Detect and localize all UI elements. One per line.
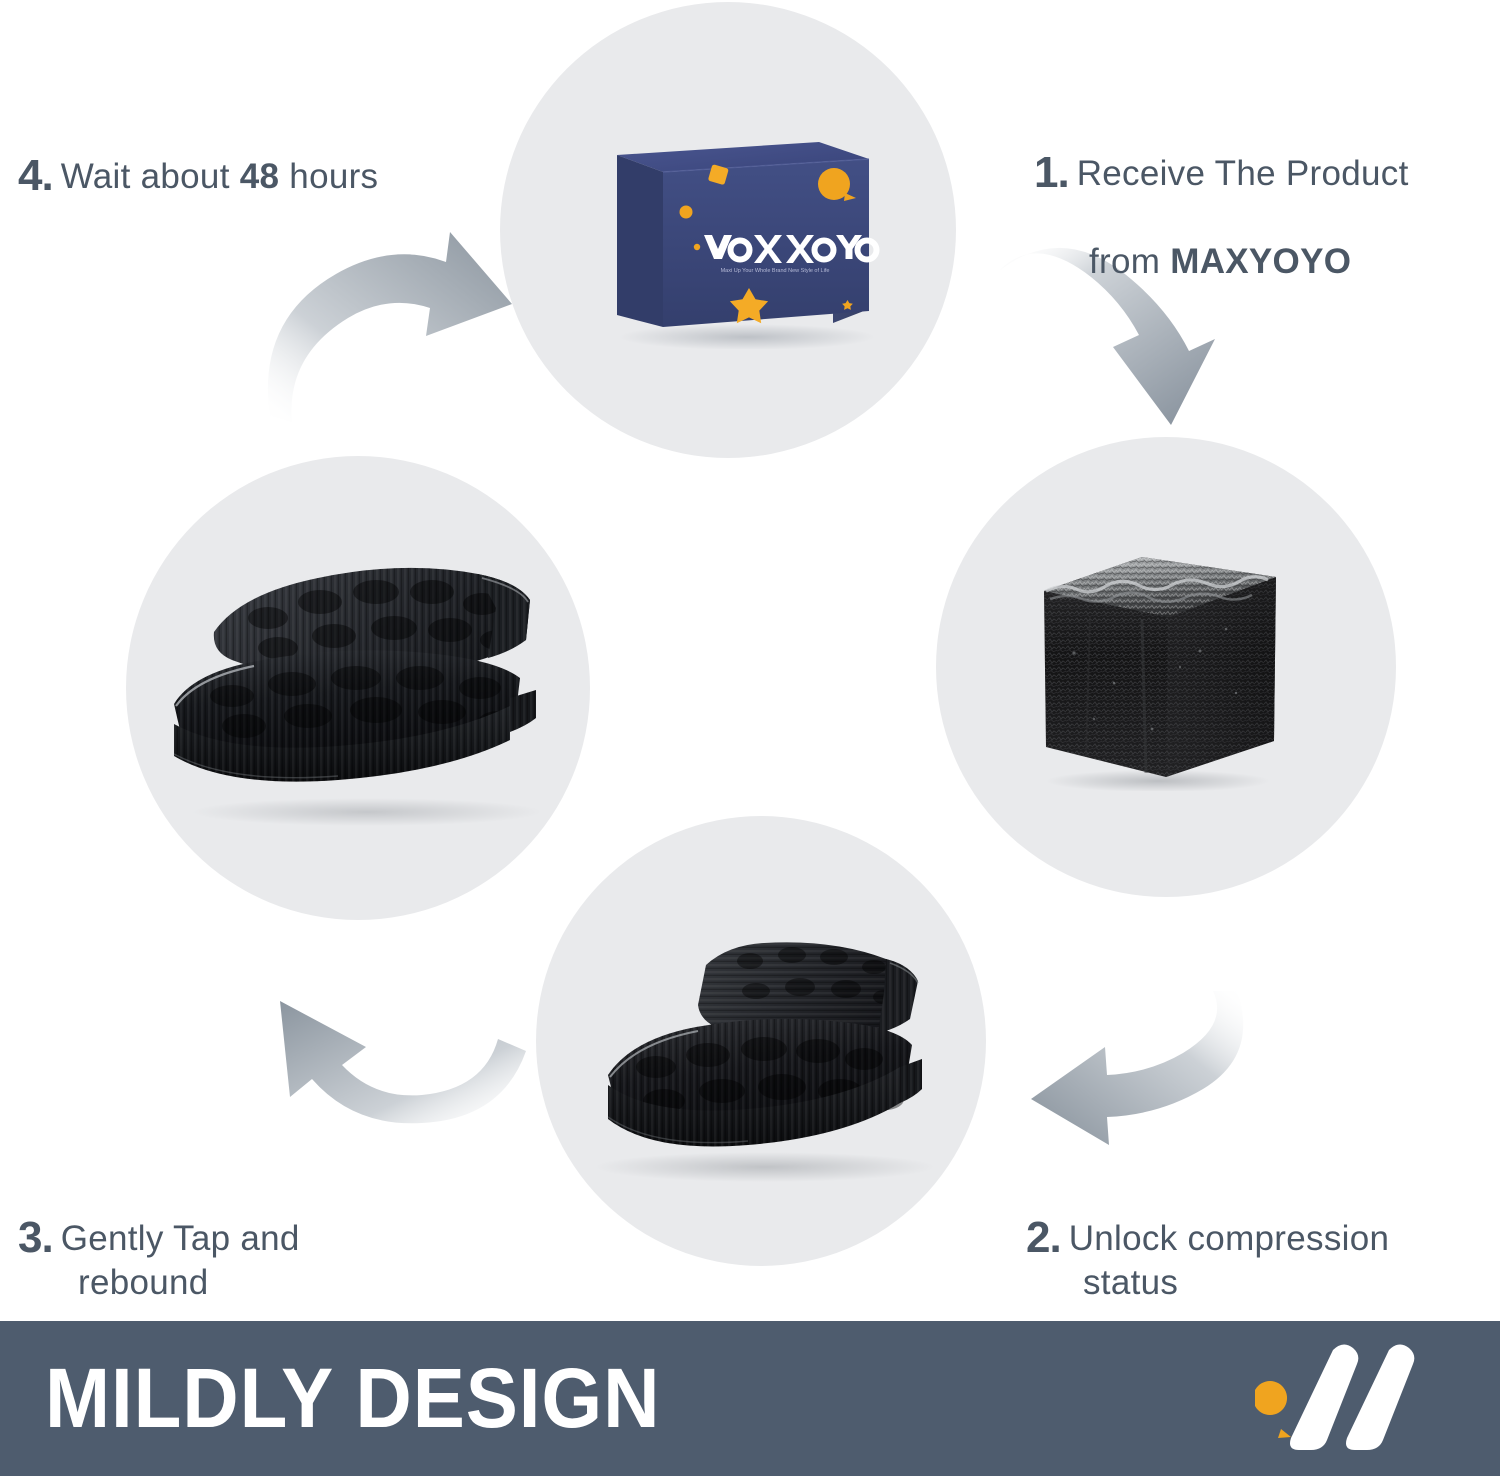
arrow-step2-to-step3 <box>985 985 1265 1185</box>
step-4-label: 4.Wait about 48 hours <box>18 110 478 199</box>
step-2-number: 2. <box>1026 1213 1061 1262</box>
box-decoration-dot-small <box>680 206 693 219</box>
step-4-text-suffix: hours <box>279 157 378 196</box>
step-3-text-line2: rebound <box>78 1263 209 1302</box>
step-1-text-line2-prefix: from <box>1089 242 1170 281</box>
step-1-text-line1: Receive The Product <box>1077 154 1409 193</box>
box-tagline: Maxi Up Your Whole Brand New Style of Li… <box>721 268 830 274</box>
arrow-step4-to-step1 <box>248 188 513 423</box>
step-4-text-prefix: Wait about <box>61 157 240 196</box>
sofa-unfolded-image <box>560 915 970 1185</box>
maxyoyo-box-image: Maxi Up Your Whole Brand New Style of Li… <box>597 119 887 349</box>
infographic-stage: Maxi Up Your Whole Brand New Style of Li… <box>0 0 1500 1476</box>
maxyoyo-logo-icon <box>1255 1336 1465 1461</box>
step-2-text-line2: status <box>1083 1263 1178 1302</box>
arrow-step3-to-step4 <box>258 935 543 1145</box>
compressed-foam-block-image <box>1030 533 1286 791</box>
logo-dot-icon <box>1255 1381 1291 1438</box>
step-4-number: 4. <box>18 151 53 200</box>
step-1-number: 1. <box>1034 148 1069 197</box>
step-4-hours-value: 48 <box>240 157 280 196</box>
step-1-label: 1.Receive The Product from MAXYOYO <box>1034 107 1464 328</box>
step-2-text-line1: Unlock compression <box>1069 1219 1390 1258</box>
footer-title: MILDLY DESIGN <box>45 1350 660 1446</box>
step-3-text-line1: Gently Tap and <box>61 1219 300 1258</box>
step-1-brand: MAXYOYO <box>1170 242 1351 281</box>
step-3-number: 3. <box>18 1213 53 1262</box>
sofa-folded-image <box>152 520 572 830</box>
